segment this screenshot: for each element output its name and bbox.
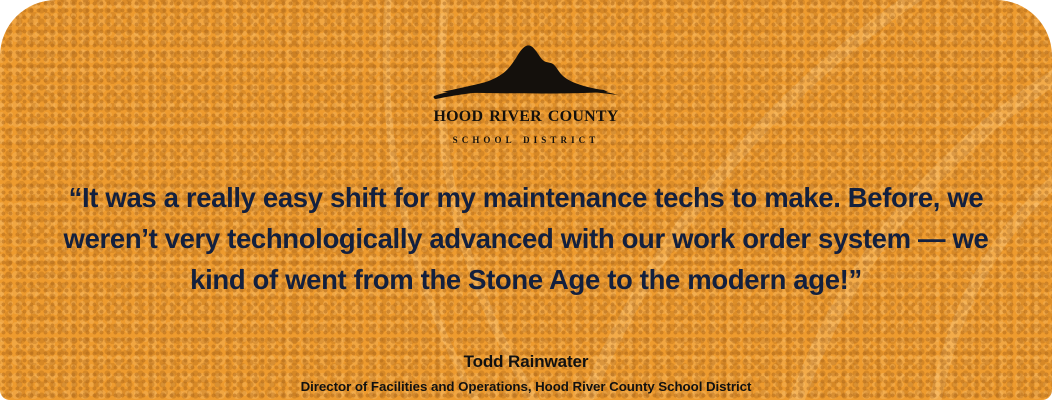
card-content: Hood River County School District “It wa… (0, 0, 1052, 400)
logo-subtitle: School District (453, 132, 600, 145)
quote-line-3: kind of went from the Stone Age to the m… (46, 259, 1006, 300)
author-name: Todd Rainwater (301, 351, 752, 373)
testimonial-card: Hood River County School District “It wa… (0, 0, 1052, 400)
quote-line-2: weren’t very technologically advanced wi… (46, 218, 1006, 259)
quote-attribution: Todd Rainwater Director of Facilities an… (301, 351, 752, 396)
author-role: Director of Facilities and Operations, H… (301, 378, 752, 396)
quote-line-1: “It was a really easy shift for my maint… (46, 177, 1006, 218)
mountain-and-river-logo-mark-icon (426, 42, 626, 102)
hood-river-county-school-district-logo: Hood River County School District (410, 42, 642, 145)
logo-name: Hood River County (434, 103, 619, 127)
testimonial-quote: “It was a really easy shift for my maint… (46, 177, 1006, 300)
